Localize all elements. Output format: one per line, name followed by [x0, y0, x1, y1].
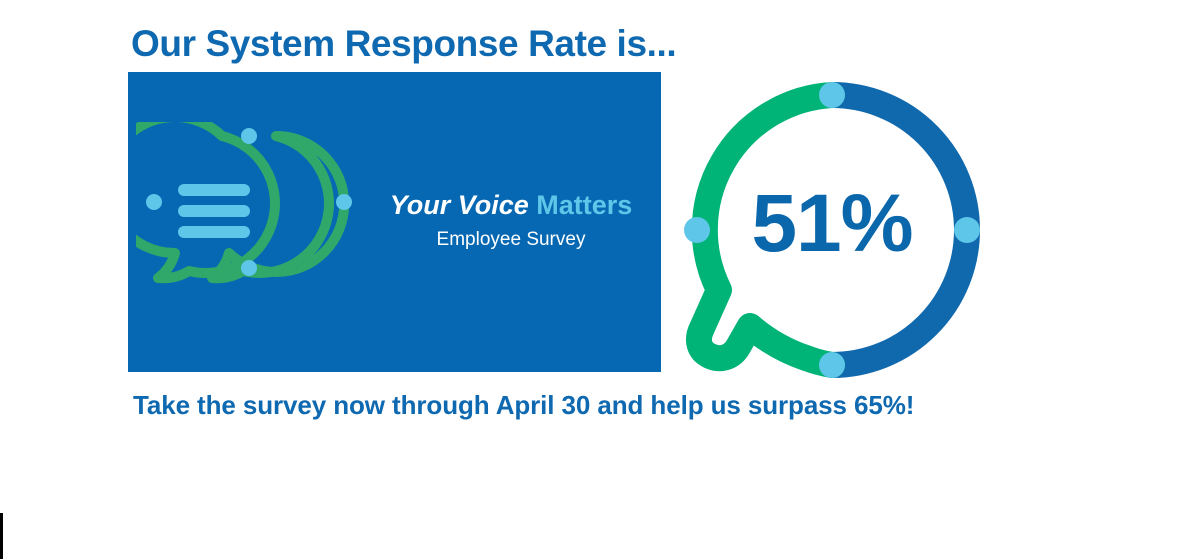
survey-logo-panel: Your Voice Matters Employee Survey [128, 72, 661, 372]
brand-wordmark: Your Voice Matters [376, 190, 646, 221]
gauge-value-label: 51% [672, 176, 992, 272]
brand-subtitle: Employee Survey [376, 229, 646, 251]
page-title: Our System Response Rate is... [131, 22, 676, 66]
brand-wordmark-primary: Your Voice [390, 190, 537, 220]
gauge-dot-top [819, 82, 845, 108]
call-to-action-caption: Take the survey now through April 30 and… [133, 388, 914, 422]
left-edge-marker [0, 513, 3, 559]
brand-wordmark-secondary: Matters [536, 190, 632, 220]
gauge-dot-bottom [819, 352, 845, 378]
response-rate-gauge: 51% [672, 70, 992, 390]
slide-canvas: Our System Response Rate is... [0, 0, 1199, 559]
two-speech-bubbles-icon [136, 122, 361, 312]
brand-lockup: Your Voice Matters Employee Survey [376, 190, 646, 251]
